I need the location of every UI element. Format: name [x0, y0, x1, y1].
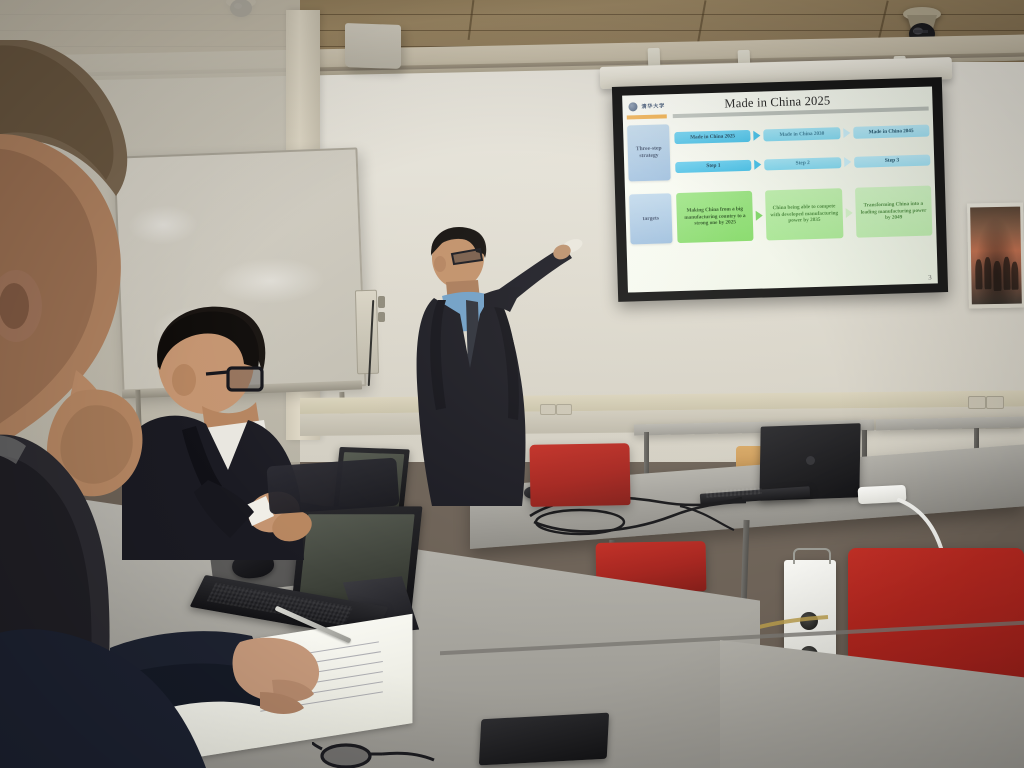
- laptop-right-logo-icon: [806, 456, 815, 465]
- poster-photo: [970, 207, 1022, 305]
- strategy-top-cells: Made in China 2025 Made in China 2030 Ma…: [674, 119, 930, 151]
- arrow-5: [753, 210, 766, 220]
- wall-socket-3[interactable]: [968, 396, 986, 409]
- presenter: [406, 218, 606, 508]
- cell-step-1: Step 1: [675, 159, 752, 172]
- cell-target-2025: Making China from a big manufacturing co…: [676, 191, 754, 243]
- slide-page-number: 3: [928, 274, 932, 282]
- arrow-1: [751, 130, 764, 140]
- cell-step-3: Step 3: [854, 154, 931, 167]
- wall-hook-2: [378, 312, 385, 322]
- cell-target-2049: Transforming China into a leading manufa…: [855, 186, 933, 238]
- cell-mic-2025: Made in China 2025: [674, 130, 751, 145]
- row-label-targets: targets: [629, 193, 672, 244]
- strategy-step-cells: Step 1 Step 2 Step 3: [675, 149, 931, 179]
- cell-target-2035: China being able to compete with develop…: [765, 188, 843, 240]
- phone-case[interactable]: [479, 713, 609, 766]
- slide-content: 清华大学 Made in China 2025 Three-step strat…: [622, 86, 938, 292]
- cell-mic-2030: Made in China 2030: [764, 127, 841, 142]
- photo-scene: 清华大学 Made in China 2025 Three-step strat…: [0, 0, 1024, 768]
- wall-socket-4[interactable]: [986, 396, 1004, 409]
- wall-hook-1: [378, 296, 385, 308]
- cell-mic-2045: Made in China 2045: [853, 124, 930, 139]
- arrow-2: [840, 128, 853, 138]
- wall-control-panel[interactable]: [355, 290, 379, 375]
- power-box-handle[interactable]: [793, 548, 831, 564]
- targets-cells: Making China from a big manufacturing co…: [676, 186, 932, 244]
- arrow-4: [841, 157, 854, 167]
- attendee-foreground: [0, 40, 260, 768]
- slide-diagram: Three-step strategy Made in China 2025 M…: [627, 117, 934, 287]
- arrow-3: [751, 159, 764, 169]
- wall-speaker-icon: [345, 23, 401, 69]
- row-label-strategy: Three-step strategy: [627, 124, 671, 181]
- arrow-6: [842, 208, 855, 218]
- divider-accent: [627, 114, 667, 119]
- cell-step-2: Step 2: [764, 157, 841, 170]
- bag-on-table: [266, 458, 399, 515]
- projection-screen[interactable]: 清华大学 Made in China 2025 Three-step strat…: [612, 77, 948, 302]
- wall-poster: [967, 203, 1024, 309]
